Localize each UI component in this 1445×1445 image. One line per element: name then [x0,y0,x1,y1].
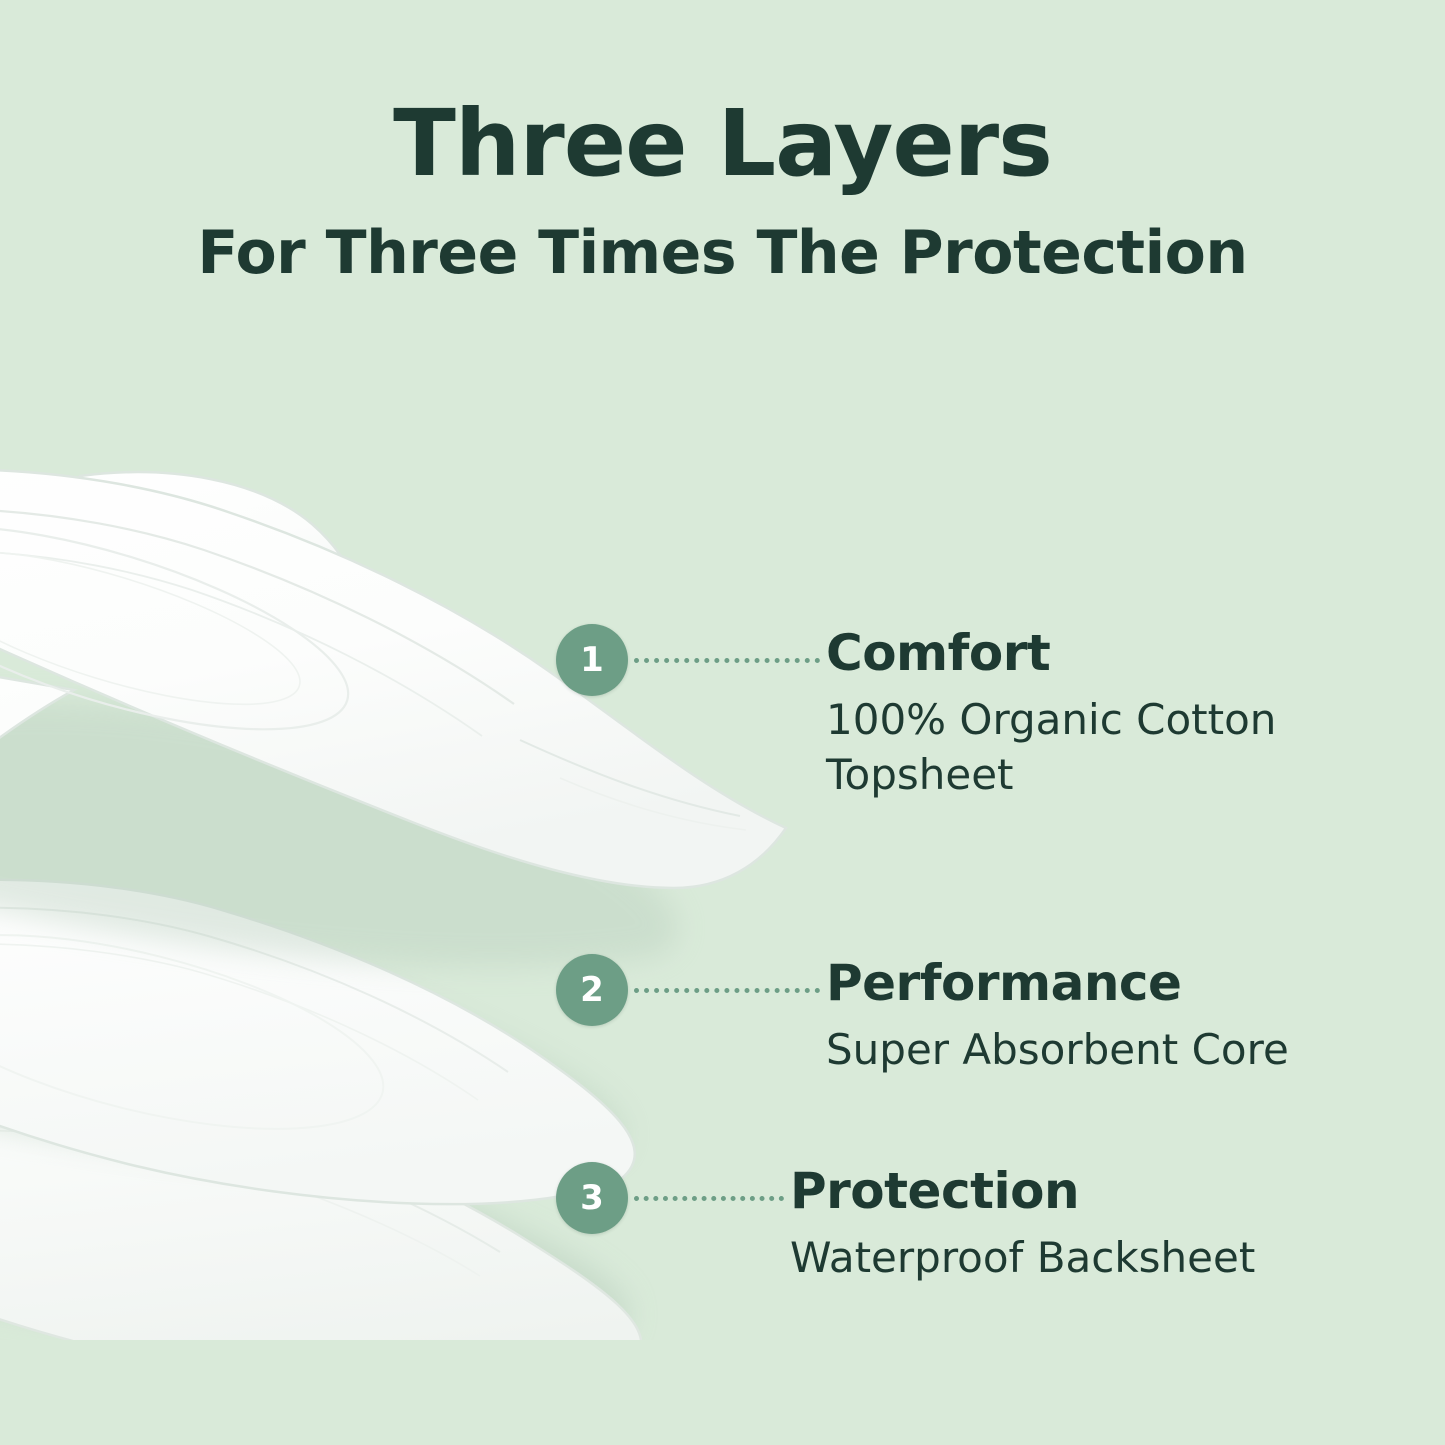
callout-text-2: Performance Super Absorbent Core [826,954,1289,1078]
callout-performance: 2 Performance Super Absorbent Core [556,954,1289,1078]
callout-text-1: Comfort 100% Organic Cotton Topsheet [826,624,1386,802]
callout-comfort: 1 Comfort 100% Organic Cotton Topsheet [556,624,1386,802]
callout-body-2: Super Absorbent Core [826,1023,1289,1078]
callout-heading-2: Performance [826,956,1289,1011]
callout-badge-2: 2 [556,954,628,1026]
heading-block: Three Layers For Three Times The Protect… [0,96,1445,288]
leader-line-2 [634,954,820,1026]
callout-body-1: 100% Organic Cotton Topsheet [826,693,1386,802]
callout-text-3: Protection Waterproof Backsheet [790,1162,1255,1286]
leader-line-1 [634,624,820,696]
infographic-canvas: Three Layers For Three Times The Protect… [0,0,1445,1445]
callout-heading-3: Protection [790,1164,1255,1219]
leader-line-3 [634,1162,784,1234]
callout-badge-3: 3 [556,1162,628,1234]
callout-protection: 3 Protection Waterproof Backsheet [556,1162,1255,1286]
page-subtitle: For Three Times The Protection [0,219,1445,288]
page-title: Three Layers [0,96,1445,193]
callout-heading-1: Comfort [826,626,1386,681]
callout-body-3: Waterproof Backsheet [790,1231,1255,1286]
callout-badge-1: 1 [556,624,628,696]
